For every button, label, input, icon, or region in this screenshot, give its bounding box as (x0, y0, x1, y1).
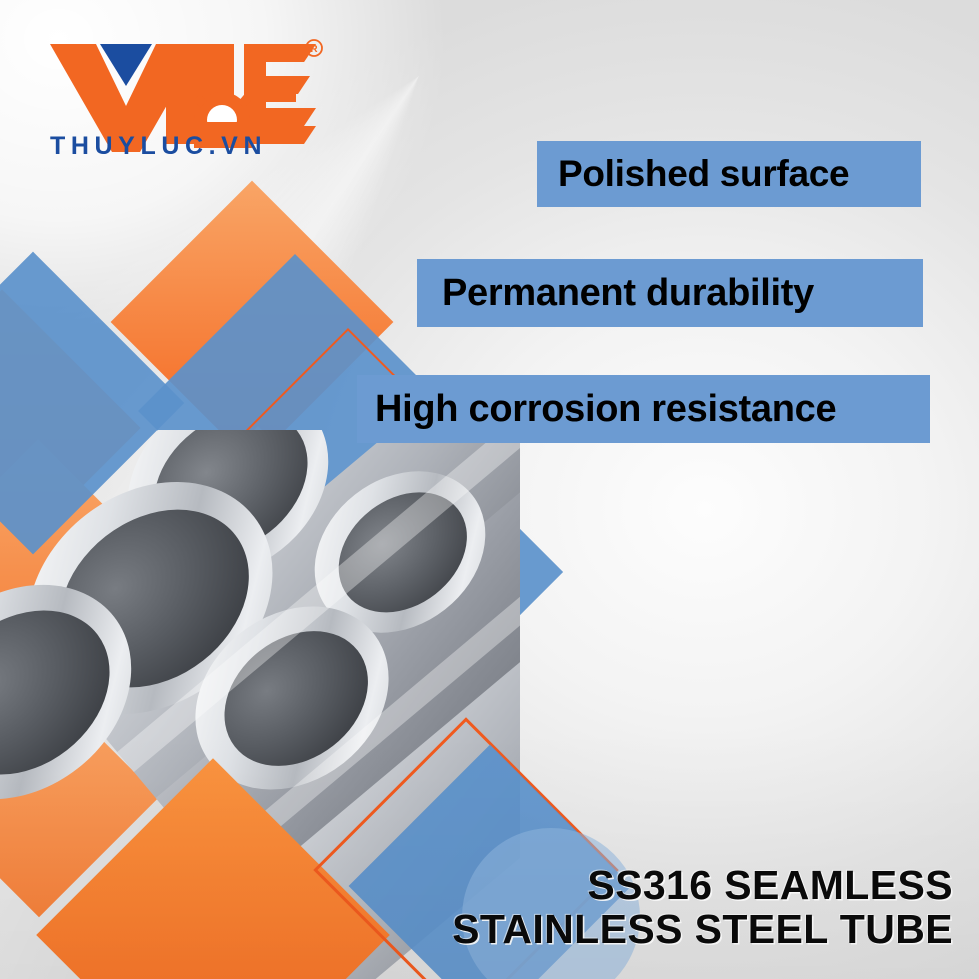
bottom-vignette (0, 0, 979, 979)
product-poster: R THUYLUC.VN Polished surface Permanent … (0, 0, 979, 979)
